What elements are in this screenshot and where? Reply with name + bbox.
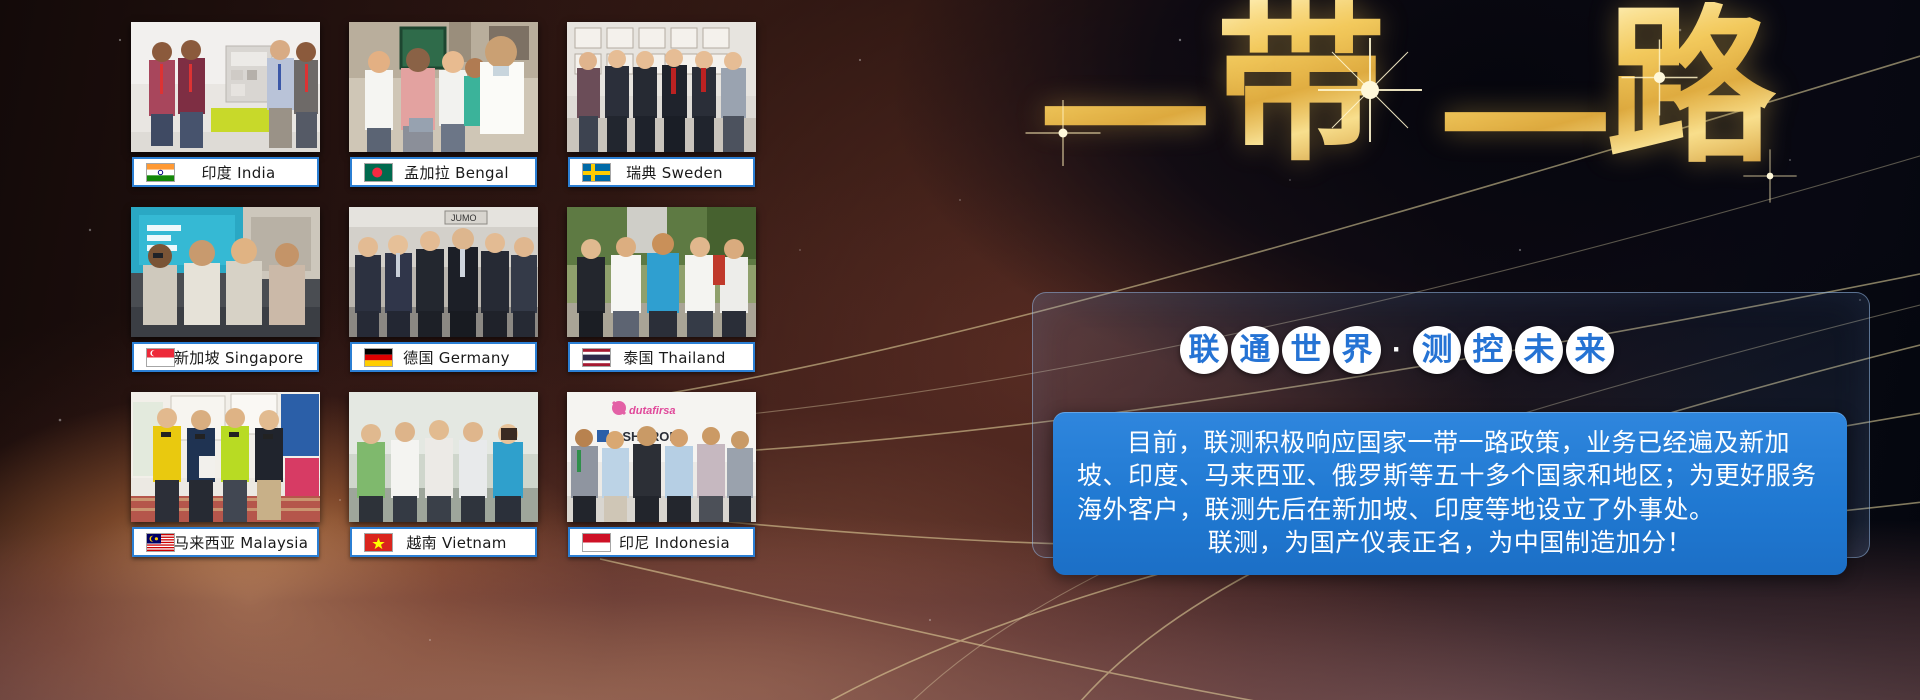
gallery-item[interactable]: 孟加拉 Bengal <box>349 22 538 198</box>
gallery-item[interactable]: dutafirsa ASHCROFT <box>567 392 756 568</box>
slogan-ribbon: 联 通 世 界 · 测 控 未 来 <box>1180 326 1614 374</box>
slogan-char-8: 来 <box>1566 326 1614 374</box>
flag-thailand-icon <box>583 349 610 366</box>
country-caption: 越南 Vietnam <box>350 527 537 557</box>
slogan-char-7: 未 <box>1515 326 1563 374</box>
country-caption: 瑞典 Sweden <box>568 157 755 187</box>
photo-bengal-factory-group <box>349 22 538 152</box>
svg-text:JUMO: JUMO <box>451 213 477 223</box>
country-label: 马来西亚 Malaysia <box>174 532 322 553</box>
photo-indonesia-ashcroft-office: dutafirsa ASHCROFT <box>567 392 756 522</box>
country-caption: 印尼 Indonesia <box>568 527 755 557</box>
gallery-item[interactable]: JUMO 德国 Germany <box>349 207 538 383</box>
info-paragraph-box: 目前，联测积极响应国家一带一路政策，业务已经遍及新加坡、印度、马来西亚、俄罗斯等… <box>1053 412 1847 575</box>
headline-calligraphy: 一 带 一 路 <box>1040 8 1800 208</box>
slogan-char-4: 界 <box>1333 326 1381 374</box>
gallery-item[interactable]: 瑞典 Sweden <box>567 22 756 198</box>
country-caption: 新加坡 Singapore <box>132 342 319 372</box>
country-label: 印尼 Indonesia <box>610 532 753 553</box>
country-label: 孟加拉 Bengal <box>392 162 535 183</box>
photo-malaysia-expo-group <box>131 392 320 522</box>
headline-char-2: 带 <box>1216 0 1386 170</box>
slogan-char-2: 通 <box>1231 326 1279 374</box>
country-caption: 印度 India <box>132 157 319 187</box>
photo-sweden-office-group <box>567 22 756 152</box>
country-caption: 孟加拉 Bengal <box>350 157 537 187</box>
gallery-item[interactable]: 泰国 Thailand <box>567 207 756 383</box>
country-label: 越南 Vietnam <box>392 532 535 553</box>
flag-germany-icon <box>365 349 392 366</box>
country-label: 德国 Germany <box>392 347 535 368</box>
gallery-item[interactable]: 印度 India <box>131 22 320 198</box>
country-photo-grid: 印度 India <box>131 22 756 582</box>
slogan-char-6: 控 <box>1464 326 1512 374</box>
country-label: 泰国 Thailand <box>610 347 753 368</box>
flag-singapore-icon <box>147 349 174 366</box>
flag-bangladesh-icon <box>365 164 392 181</box>
country-caption: 马来西亚 Malaysia <box>132 527 319 557</box>
country-label: 瑞典 Sweden <box>610 162 753 183</box>
slogan-char-1: 联 <box>1180 326 1228 374</box>
flag-malaysia-icon <box>147 534 174 551</box>
headline-char-3: 一 <box>1440 44 1610 214</box>
gallery-item[interactable]: 新加坡 Singapore <box>131 207 320 383</box>
country-label: 新加坡 Singapore <box>174 347 317 368</box>
paragraph-line-2: 联测，为国产仪表正名，为中国制造加分！ <box>1077 526 1823 559</box>
photo-india-exhibition-booth <box>131 22 320 152</box>
gallery-item[interactable]: 越南 Vietnam <box>349 392 538 568</box>
banner-stage: 印度 India <box>0 0 1920 700</box>
slogan-char-3: 世 <box>1282 326 1330 374</box>
headline-char-1: 一 <box>1040 38 1210 208</box>
photo-germany-jumo-visit: JUMO <box>349 207 538 337</box>
slogan-char-5: 测 <box>1413 326 1461 374</box>
flag-indonesia-icon <box>583 534 610 551</box>
photo-thailand-outdoor-group <box>567 207 756 337</box>
svg-text:dutafirsa: dutafirsa <box>629 405 675 417</box>
gallery-item[interactable]: 马来西亚 Malaysia <box>131 392 320 568</box>
flag-vietnam-icon <box>365 534 392 551</box>
headline-char-4: 路 <box>1606 2 1776 172</box>
photo-vietnam-team-group <box>349 392 538 522</box>
photo-singapore-meeting-group <box>131 207 320 337</box>
flag-india-icon <box>147 164 174 181</box>
paragraph-line-1: 目前，联测积极响应国家一带一路政策，业务已经遍及新加坡、印度、马来西亚、俄罗斯等… <box>1077 426 1823 526</box>
flag-sweden-icon <box>583 164 610 181</box>
country-caption: 德国 Germany <box>350 342 537 372</box>
slogan-separator: · <box>1384 326 1410 374</box>
country-label: 印度 India <box>174 162 317 183</box>
country-caption: 泰国 Thailand <box>568 342 755 372</box>
